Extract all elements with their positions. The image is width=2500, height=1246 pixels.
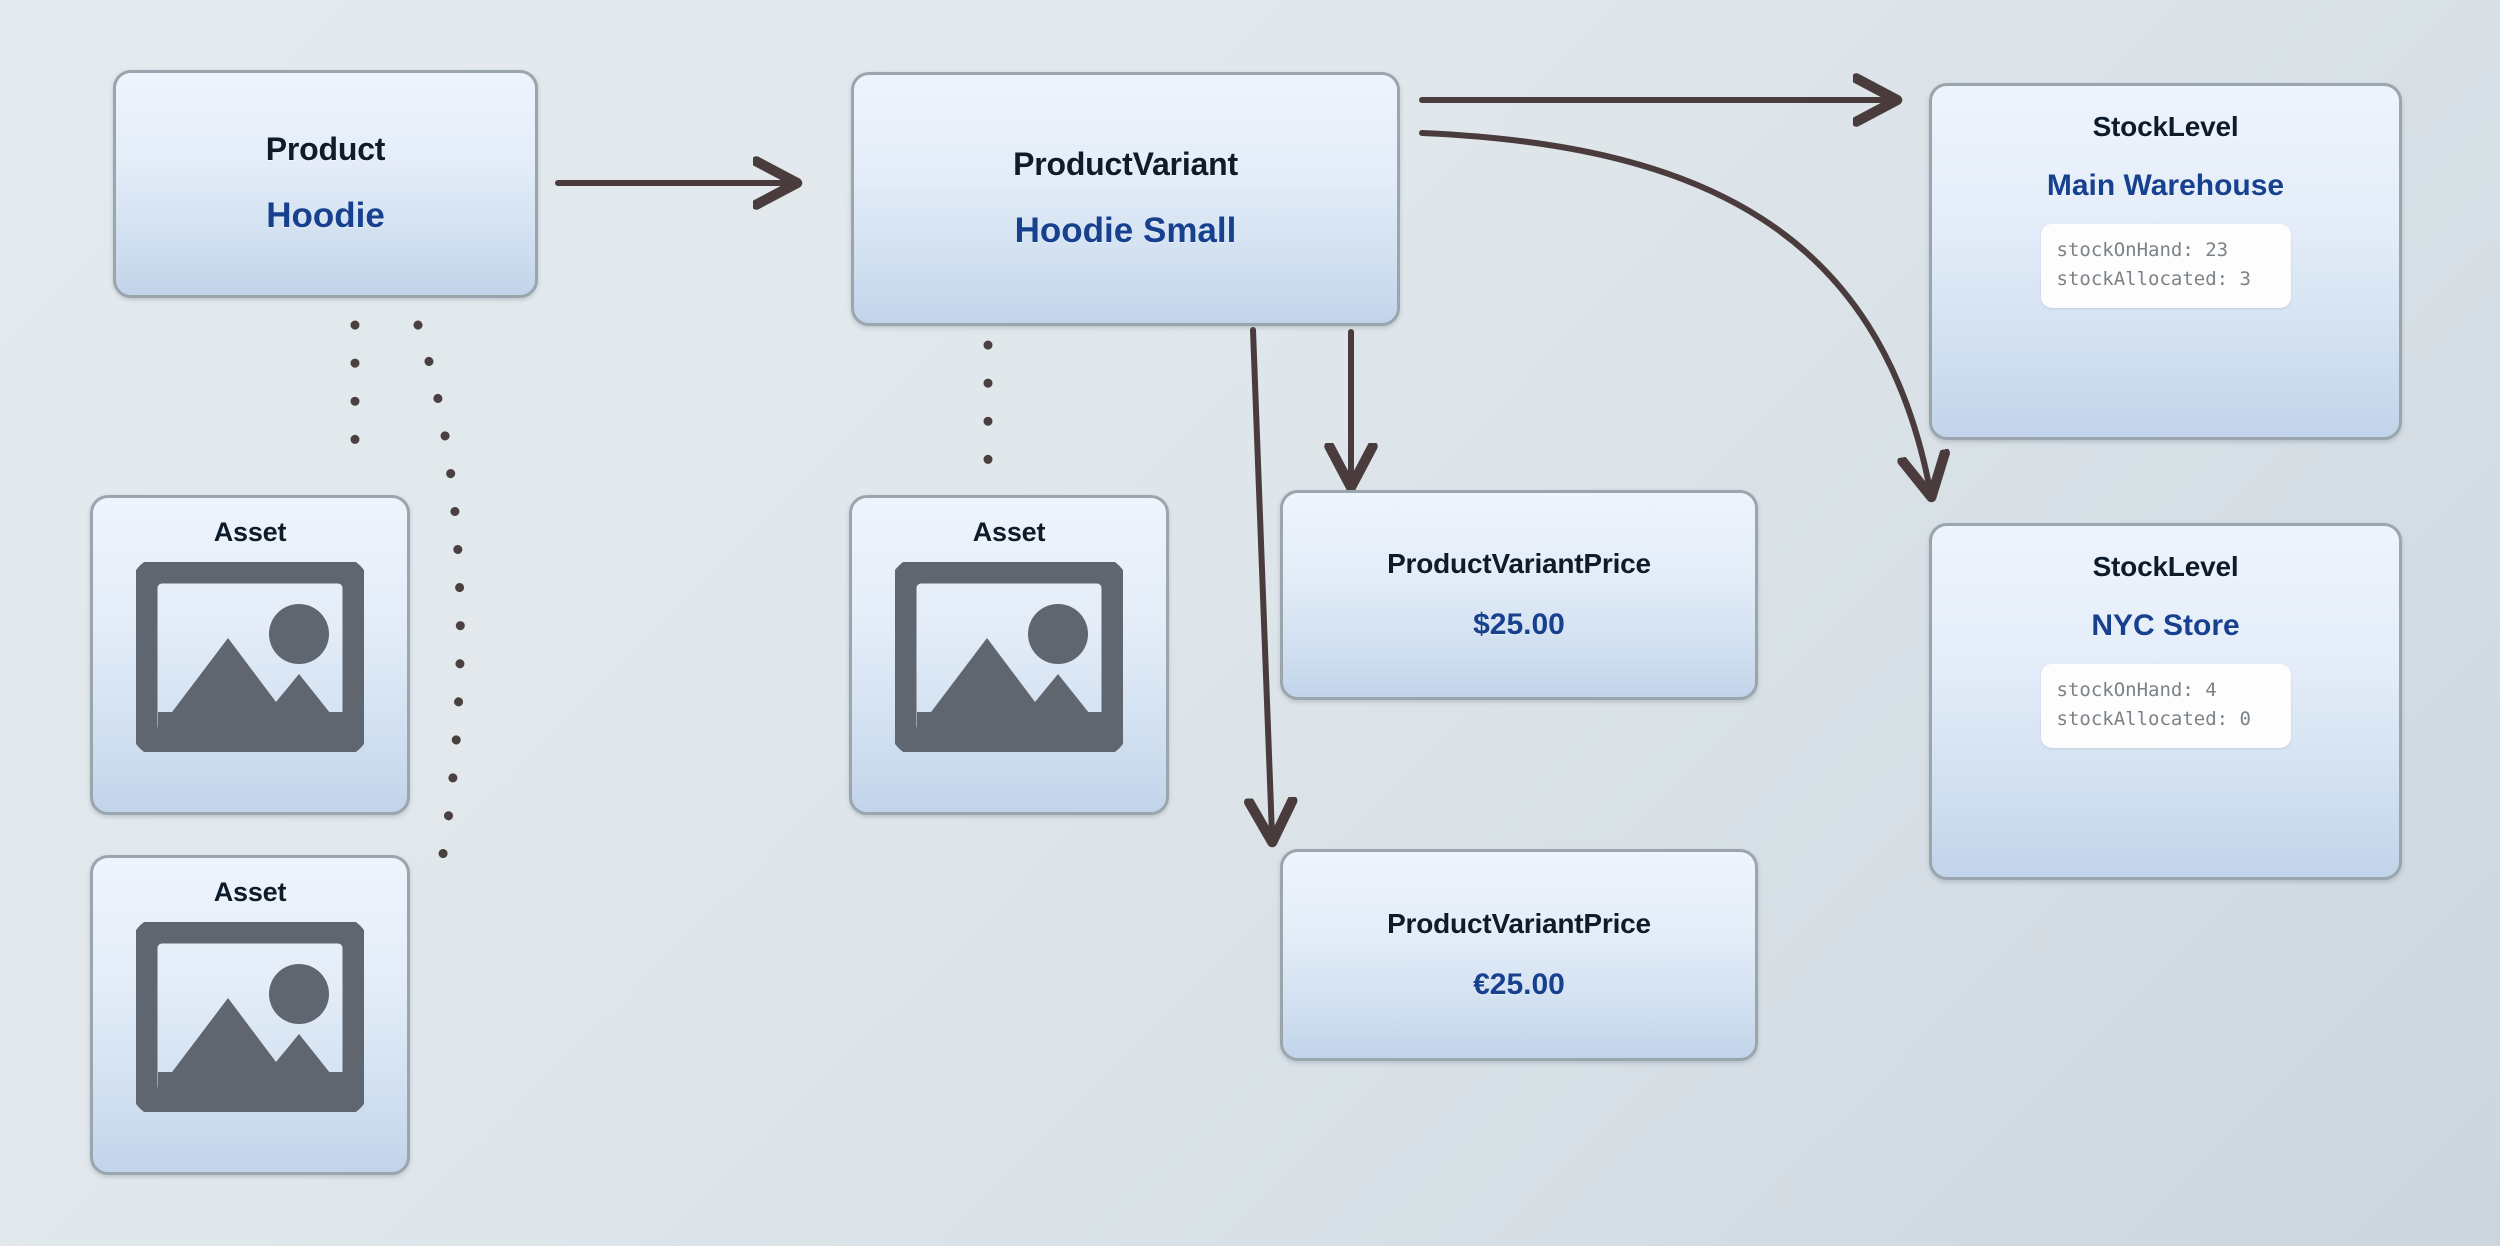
stock-main-fields: stockOnHand: 23 stockAllocated: 3 bbox=[2041, 224, 2291, 308]
node-price-usd-amount: $25.00 bbox=[1473, 608, 1565, 641]
node-stock-nyc-location: NYC Store bbox=[2091, 609, 2239, 642]
node-product-variant[interactable]: ProductVariant Hoodie Small bbox=[851, 72, 1400, 326]
stock-nyc-fields: stockOnHand: 4 stockAllocated: 0 bbox=[2041, 664, 2291, 748]
node-asset-product-2-type: Asset bbox=[214, 878, 287, 908]
node-price-eur-amount: €25.00 bbox=[1473, 968, 1565, 1001]
node-asset-variant[interactable]: Asset bbox=[849, 495, 1169, 815]
node-product-variant-type: ProductVariant bbox=[1013, 147, 1238, 182]
node-asset-variant-type: Asset bbox=[973, 518, 1046, 548]
stock-main-on-hand: stockOnHand: 23 bbox=[2041, 236, 2291, 265]
stock-nyc-allocated: stockAllocated: 0 bbox=[2041, 705, 2291, 734]
node-asset-product-1[interactable]: Asset bbox=[90, 495, 410, 815]
stock-main-allocated: stockAllocated: 3 bbox=[2041, 265, 2291, 294]
node-asset-product-1-type: Asset bbox=[214, 518, 287, 548]
node-price-eur-type: ProductVariantPrice bbox=[1387, 909, 1651, 940]
image-placeholder-icon bbox=[895, 562, 1123, 752]
edge-variant-to-price-eur bbox=[1253, 330, 1272, 835]
node-product-type: Product bbox=[266, 132, 386, 167]
node-stock-main-type: StockLevel bbox=[2093, 112, 2239, 143]
diagram-canvas: Product Hoodie ProductVariant Hoodie Sma… bbox=[0, 0, 2500, 1246]
node-product-variant-name: Hoodie Small bbox=[1015, 212, 1237, 251]
node-stock-nyc-type: StockLevel bbox=[2093, 552, 2239, 583]
node-stock-level-nyc-store[interactable]: StockLevel NYC Store stockOnHand: 4 stoc… bbox=[1929, 523, 2402, 880]
node-product-variant-price-usd[interactable]: ProductVariantPrice $25.00 bbox=[1280, 490, 1758, 700]
node-asset-product-2[interactable]: Asset bbox=[90, 855, 410, 1175]
edge-product-to-asset-2 bbox=[418, 325, 460, 872]
edge-variant-to-stock-nyc bbox=[1422, 133, 1930, 490]
image-placeholder-icon bbox=[136, 562, 364, 752]
stock-nyc-on-hand: stockOnHand: 4 bbox=[2041, 676, 2291, 705]
node-stock-level-main-warehouse[interactable]: StockLevel Main Warehouse stockOnHand: 2… bbox=[1929, 83, 2402, 440]
image-placeholder-icon bbox=[136, 922, 364, 1112]
node-product-variant-price-eur[interactable]: ProductVariantPrice €25.00 bbox=[1280, 849, 1758, 1061]
node-product-name: Hoodie bbox=[266, 197, 385, 236]
node-price-usd-type: ProductVariantPrice bbox=[1387, 549, 1651, 580]
node-product[interactable]: Product Hoodie bbox=[113, 70, 538, 298]
node-stock-main-location: Main Warehouse bbox=[2047, 169, 2284, 202]
